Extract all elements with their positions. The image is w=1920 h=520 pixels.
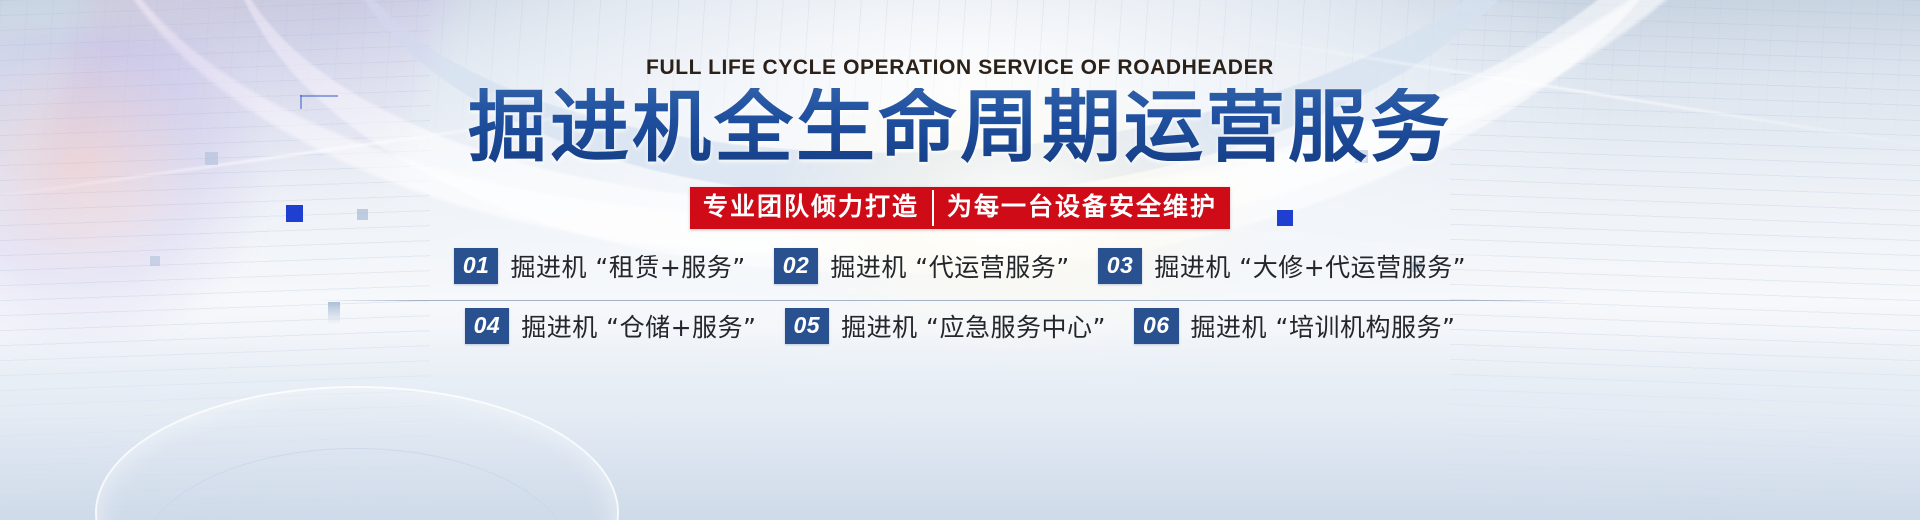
service-number-badge: 02 (774, 248, 819, 284)
service-item-label: 掘进机 “应急服务中心” (841, 308, 1106, 344)
service-item-label: 掘进机 “租赁+服务” (510, 248, 745, 284)
promo-banner: FULL LIFE CYCLE OPERATION SERVICE OF ROA… (0, 0, 1920, 520)
english-subtitle: FULL LIFE CYCLE OPERATION SERVICE OF ROA… (0, 56, 1920, 80)
red-tag-wrapper: 专业团队倾力打造 为每一台设备安全维护 (0, 187, 1920, 229)
service-item-label: 掘进机 “仓储+服务” (521, 308, 756, 344)
red-tag-banner: 专业团队倾力打造 为每一台设备安全维护 (690, 187, 1230, 229)
service-item-label: 掘进机 “代运营服务” (830, 248, 1069, 284)
service-number-badge: 05 (785, 308, 830, 344)
service-row-2: 04 掘进机 “仓储+服务” 05 掘进机 “应急服务中心” 06 掘进机 “培… (0, 308, 1920, 344)
service-item-02[interactable]: 02 掘进机 “代运营服务” (774, 248, 1070, 284)
service-item-label: 掘进机 “大修+代运营服务” (1154, 248, 1466, 284)
service-row-1: 01 掘进机 “租赁+服务” 02 掘进机 “代运营服务” 03 掘进机 “大修… (0, 248, 1920, 284)
red-tag-right-text: 为每一台设备安全维护 (934, 187, 1230, 229)
main-title: 掘进机全生命周期运营服务 (0, 88, 1920, 167)
service-item-01[interactable]: 01 掘进机 “租赁+服务” (454, 248, 746, 284)
service-number-badge: 04 (465, 308, 510, 344)
service-item-06[interactable]: 06 掘进机 “培训机构服务” (1134, 308, 1455, 344)
service-item-05[interactable]: 05 掘进机 “应急服务中心” (785, 308, 1106, 344)
service-number-badge: 06 (1134, 308, 1179, 344)
service-number-badge: 03 (1098, 248, 1143, 284)
red-tag-left-text: 专业团队倾力打造 (690, 187, 932, 229)
banner-content: FULL LIFE CYCLE OPERATION SERVICE OF ROA… (0, 0, 1920, 520)
service-number-badge: 01 (454, 248, 499, 284)
service-item-03[interactable]: 03 掘进机 “大修+代运营服务” (1098, 248, 1466, 284)
service-item-label: 掘进机 “培训机构服务” (1191, 308, 1456, 344)
service-item-04[interactable]: 04 掘进机 “仓储+服务” (465, 308, 757, 344)
section-divider (320, 300, 1575, 301)
